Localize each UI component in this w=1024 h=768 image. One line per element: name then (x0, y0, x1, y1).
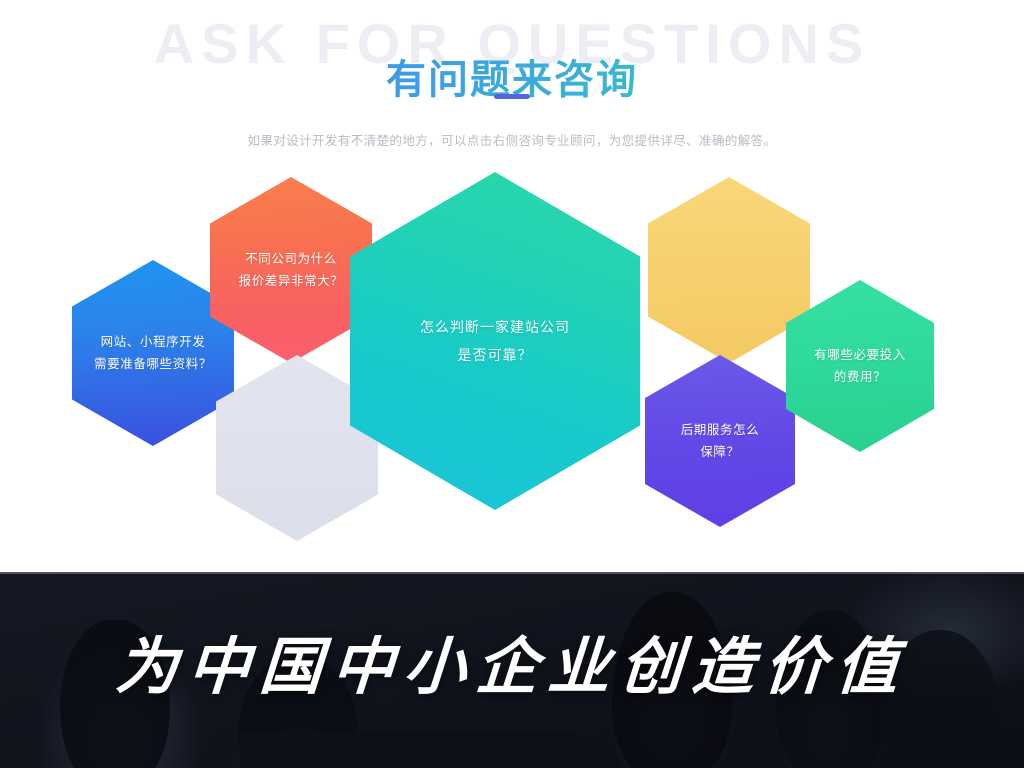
banner-top-divider (0, 572, 1024, 574)
banner-headline: 为中国中小企业创造价值 (0, 624, 1024, 710)
bottom-banner: 为中国中小企业创造价值 (0, 572, 1024, 768)
hexagon-label: 后期服务怎么 保障？ (671, 419, 770, 463)
hexagon-card-after-sales-service[interactable]: 后期服务怎么 保障？ (645, 355, 795, 527)
hexagon-card-reliable-company[interactable]: 怎么判断一家建站公司 是否可靠？ (350, 172, 640, 510)
section-subtitle: 如果对设计开发有不清楚的地方，可以点击右侧咨询专业顾问，为您提供详尽、准确的解答… (0, 131, 1024, 151)
faq-section: ASK FOR QUESTIONS 有问题来咨询 如果对设计开发有不清楚的地方，… (0, 0, 1024, 572)
hexagon-card-website-materials[interactable]: 网站、小程序开发 需要准备哪些资料？ (72, 260, 234, 446)
hexagon-label: 网站、小程序开发 需要准备哪些资料？ (84, 331, 222, 375)
title-divider (494, 94, 530, 99)
hexagon-label: 不同公司为什么 报价差异非常大？ (229, 248, 354, 292)
hexagon-card-price-difference[interactable]: 不同公司为什么 报价差异非常大？ (210, 177, 372, 363)
hexagon-label: 有哪些必要投入 的费用？ (804, 344, 916, 388)
hexagon-label: 怎么判断一家建站公司 是否可靠？ (410, 313, 580, 369)
banner-desk-silhouette (240, 732, 580, 768)
hexagon-grid: 网站、小程序开发 需要准备哪些资料？ 不同公司为什么 报价差异非常大？ 怎么判断… (0, 155, 1024, 555)
page-root: ASK FOR QUESTIONS 有问题来咨询 如果对设计开发有不清楚的地方，… (0, 0, 1024, 768)
hexagon-decorative-yellow (648, 177, 810, 363)
section-header: ASK FOR QUESTIONS 有问题来咨询 如果对设计开发有不清楚的地方，… (0, 0, 1024, 155)
